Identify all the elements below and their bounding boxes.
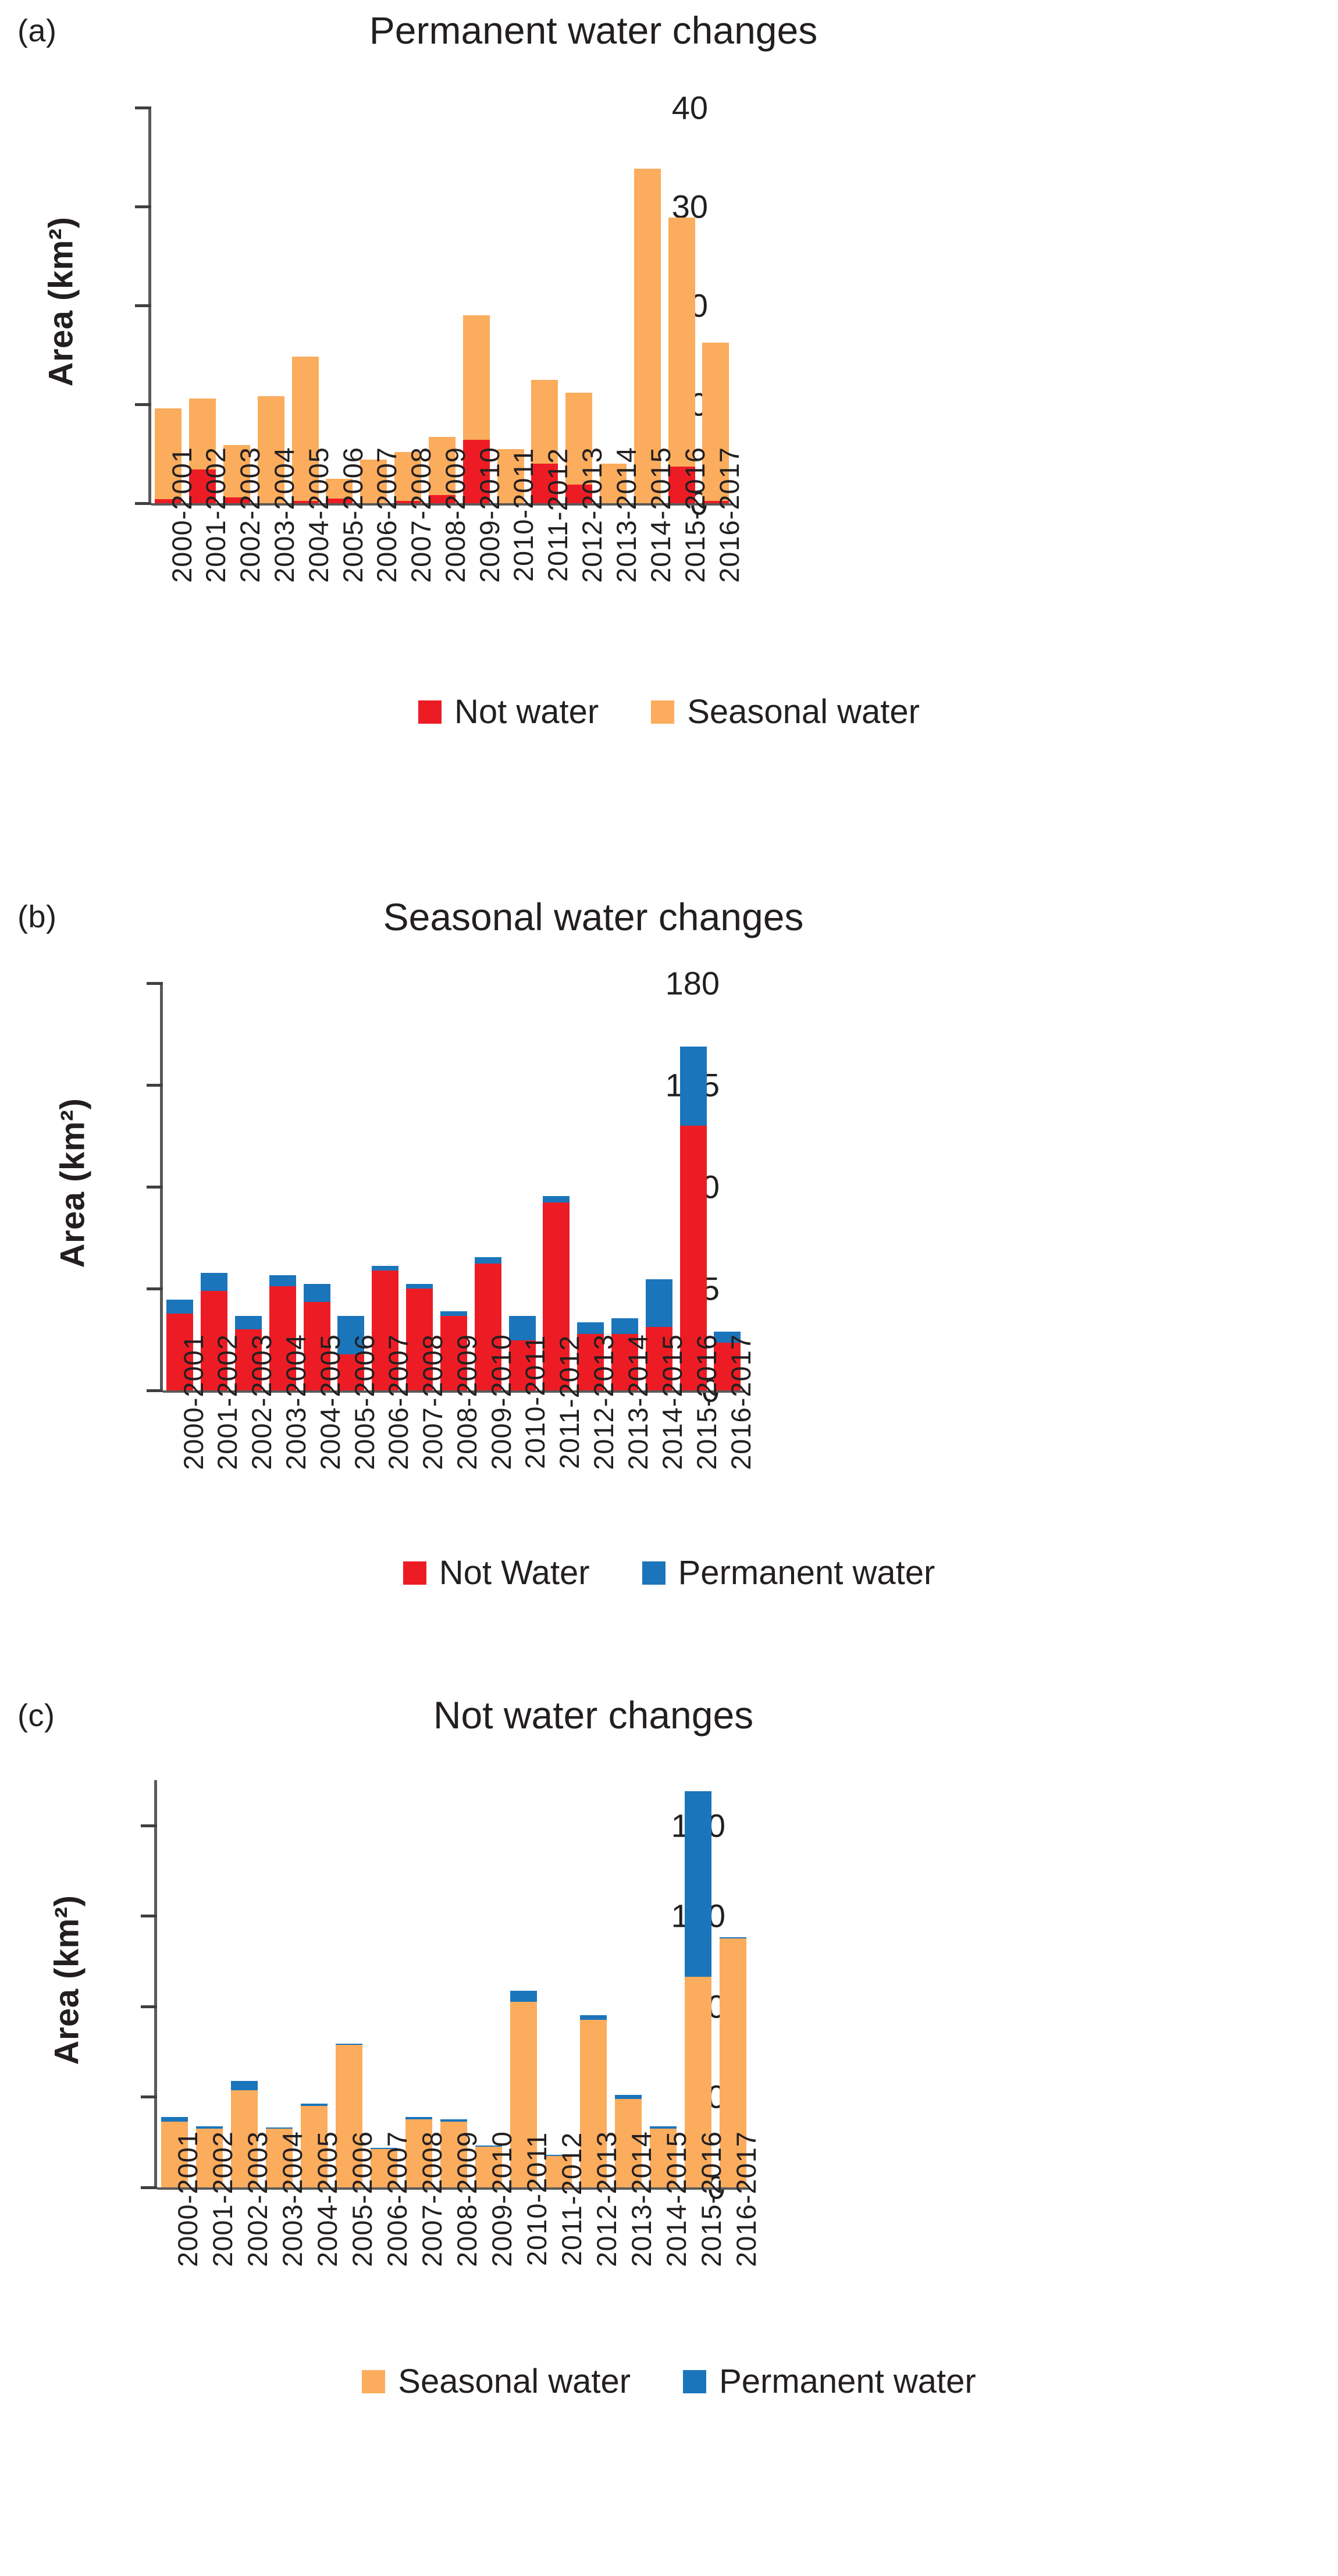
bar-slot — [163, 983, 197, 1390]
x-tick-slot: 2006-2007 — [364, 2199, 398, 2231]
panel-c-legend: Seasonal waterPermanent water — [0, 2362, 1338, 2401]
bar-segment — [510, 1991, 537, 2002]
panel-a-y-axis: 010203040 — [148, 108, 730, 503]
x-tick-slot: 2003-2004 — [259, 2199, 294, 2231]
bar-slot — [505, 983, 539, 1390]
bar-segment — [161, 2117, 188, 2122]
bar-slot — [227, 1780, 262, 2187]
y-tick-mark — [141, 2095, 157, 2098]
bar-segment — [406, 1284, 433, 1289]
x-tick-slot: 2005-2006 — [319, 515, 354, 547]
y-tick-mark — [135, 502, 151, 505]
x-tick-slot: 2008-2009 — [433, 2199, 468, 2231]
x-tick-slot: 2013-2014 — [608, 2199, 643, 2231]
x-tick-slot: 2015-2016 — [678, 2199, 713, 2231]
x-tick-slot: 2007-2008 — [388, 515, 422, 547]
legend-swatch-icon — [362, 2370, 385, 2393]
bar-slot — [471, 1780, 506, 2187]
legend-swatch-icon — [651, 700, 674, 724]
panel-b-legend: Not WaterPermanent water — [0, 1553, 1338, 1592]
y-tick-mark — [135, 403, 151, 406]
x-tick-slot: 2009-2010 — [468, 2199, 503, 2231]
bar-slot — [366, 1780, 401, 2187]
bar-segment — [440, 1311, 467, 1316]
bar-segment — [269, 1275, 296, 1286]
bar-segment — [615, 2095, 642, 2100]
bar-segment — [231, 2081, 258, 2090]
bar-slot — [681, 1780, 716, 2187]
bar-slot — [157, 1780, 192, 2187]
bar-slot — [539, 983, 574, 1390]
legend-label: Not water — [454, 692, 599, 731]
bar-slot — [220, 108, 254, 503]
legend-label: Seasonal water — [398, 2362, 631, 2401]
x-tick-slot: 2010-2011 — [502, 1402, 536, 1434]
bar-slot — [254, 108, 288, 503]
x-tick-slot: 2004-2005 — [285, 515, 319, 547]
bar-slot — [716, 1780, 750, 2187]
x-tick-slot: 2005-2006 — [329, 2199, 364, 2231]
bar-slot — [425, 108, 460, 503]
x-tick-label: 2016-2017 — [713, 447, 745, 583]
panel-a-legend: Not waterSeasonal water — [0, 692, 1338, 731]
x-tick-slot: 2009-2010 — [468, 1402, 502, 1434]
legend-item[interactable]: Not Water — [403, 1553, 590, 1592]
y-tick-mark — [141, 2005, 157, 2008]
y-tick-mark — [141, 1915, 157, 1917]
x-tick-slot: 2001-2002 — [194, 1402, 229, 1434]
x-tick-slot: 2016-2017 — [696, 515, 730, 547]
x-tick-slot: 2006-2007 — [354, 515, 388, 547]
x-tick-slot: 2001-2002 — [189, 2199, 224, 2231]
bar-slot — [611, 1780, 646, 2187]
x-tick-slot: 2015-2016 — [661, 515, 696, 547]
x-tick-slot: 2008-2009 — [422, 515, 457, 547]
bar-segment — [668, 218, 695, 467]
x-tick-slot: 2007-2008 — [400, 1402, 434, 1434]
bar-slot — [368, 983, 403, 1390]
bar-segment — [685, 1791, 711, 1977]
bar-slot — [642, 983, 676, 1390]
bar-segment — [543, 1196, 570, 1203]
panel-c-y-axis: 04080120160 — [154, 1780, 748, 2187]
x-tick-slot: 2013-2014 — [605, 1402, 639, 1434]
bar-slot — [436, 1780, 471, 2187]
x-tick-slot: 2004-2005 — [294, 2199, 329, 2231]
legend-label: Seasonal water — [687, 692, 920, 731]
legend-item[interactable]: Seasonal water — [651, 692, 920, 731]
x-tick-slot: 2006-2007 — [365, 1402, 400, 1434]
bar-segment — [463, 315, 490, 440]
panel-b-y-axis: 04590135180 — [160, 983, 742, 1390]
bar-slot — [608, 983, 642, 1390]
bar-segment — [580, 2015, 607, 2020]
panel-a-x-tick-labels: 2000-20012001-20022002-20032003-20042004… — [148, 515, 730, 547]
bar-slot — [437, 983, 471, 1390]
bar-slot — [192, 1780, 227, 2187]
y-tick-mark — [147, 1084, 163, 1087]
bar-slot — [596, 108, 631, 503]
y-tick-mark — [147, 1287, 163, 1290]
bar-slot — [574, 983, 608, 1390]
bar-slot — [493, 108, 528, 503]
bar-segment — [201, 1273, 227, 1291]
x-tick-slot: 2016-2017 — [707, 1402, 742, 1434]
legend-swatch-icon — [418, 700, 442, 724]
bar-slot — [664, 108, 699, 503]
bar-slot — [459, 108, 493, 503]
x-tick-slot: 2002-2003 — [229, 1402, 263, 1434]
bar-slot — [297, 1780, 332, 2187]
x-tick-slot: 2009-2010 — [456, 515, 490, 547]
legend-label: Not Water — [439, 1553, 590, 1592]
panel-a-bars — [151, 108, 733, 503]
panel-c-bars — [157, 1780, 750, 2187]
x-tick-slot: 2014-2015 — [639, 1402, 673, 1434]
x-tick-slot: 2011-2012 — [536, 1402, 571, 1434]
bar-slot — [471, 983, 505, 1390]
x-tick-slot: 2005-2006 — [331, 1402, 365, 1434]
bar-slot — [197, 983, 232, 1390]
panel-b: (b) Seasonal water changes Area (km²) 04… — [0, 809, 1338, 1582]
bar-slot — [332, 1780, 366, 2187]
stacked-bar[interactable] — [685, 1791, 711, 2187]
x-tick-slot: 2007-2008 — [398, 2199, 433, 2231]
bar-slot — [562, 108, 596, 503]
bar-slot — [401, 1780, 436, 2187]
bar-slot — [576, 1780, 611, 2187]
panel-a: (a) Permanent water changes Area (km²) 0… — [0, 0, 1338, 768]
bar-segment — [646, 1279, 672, 1327]
x-tick-slot: 2014-2015 — [643, 2199, 678, 2231]
x-tick-slot: 2011-2012 — [525, 515, 559, 547]
bar-slot — [288, 108, 322, 503]
x-tick-slot: 2001-2002 — [183, 515, 217, 547]
legend-label: Permanent water — [678, 1553, 935, 1592]
legend-swatch-icon — [683, 2370, 706, 2393]
x-tick-slot: 2002-2003 — [224, 2199, 259, 2231]
x-tick-slot: 2004-2005 — [297, 1402, 331, 1434]
x-tick-slot: 2003-2004 — [251, 515, 285, 547]
x-tick-label: 2016-2017 — [730, 2131, 762, 2267]
x-tick-slot: 2012-2013 — [573, 2199, 608, 2231]
bar-slot — [528, 108, 562, 503]
y-tick-mark — [141, 1824, 157, 1827]
panel-b-bars — [163, 983, 745, 1390]
x-tick-slot: 2011-2012 — [538, 2199, 573, 2231]
y-tick-mark — [147, 1389, 163, 1392]
x-tick-slot: 2000-2001 — [148, 515, 183, 547]
bar-segment — [235, 1316, 262, 1329]
x-tick-slot: 2003-2004 — [262, 1402, 297, 1434]
bar-slot — [322, 108, 357, 503]
panel-b-x-tick-labels: 2000-20012001-20022002-20032003-20042004… — [160, 1402, 742, 1434]
legend-item[interactable]: Permanent water — [642, 1553, 935, 1592]
legend-swatch-icon — [403, 1561, 426, 1585]
bar-segment — [304, 1284, 330, 1302]
x-tick-slot: 2010-2011 — [503, 2199, 538, 2231]
x-tick-slot: 2000-2001 — [154, 2199, 189, 2231]
x-tick-slot: 2016-2017 — [713, 2199, 748, 2231]
x-tick-slot: 2014-2015 — [627, 515, 661, 547]
y-tick-mark — [135, 304, 151, 307]
x-tick-slot: 2002-2003 — [217, 515, 251, 547]
bar-segment — [611, 1318, 638, 1334]
x-tick-label: 2016-2017 — [724, 1334, 756, 1470]
y-tick-mark — [135, 205, 151, 208]
bar-slot — [541, 1780, 576, 2187]
y-tick-mark — [141, 2186, 157, 2189]
bar-slot — [265, 983, 300, 1390]
x-tick-slot: 2015-2016 — [673, 1402, 707, 1434]
panel-c: (c) Not water changes Area (km²) 0408012… — [0, 1606, 1338, 2420]
bar-slot — [403, 983, 437, 1390]
legend-swatch-icon — [642, 1561, 666, 1585]
x-tick-slot: 2012-2013 — [571, 1402, 605, 1434]
legend-item[interactable]: Permanent water — [683, 2362, 976, 2401]
bar-slot — [676, 983, 710, 1390]
bar-slot — [391, 108, 425, 503]
bar-segment — [475, 1257, 501, 1264]
bar-slot — [300, 983, 334, 1390]
bar-slot — [232, 983, 266, 1390]
bar-slot — [506, 1780, 541, 2187]
bar-slot — [334, 983, 368, 1390]
bar-slot — [646, 1780, 681, 2187]
bar-segment — [372, 1266, 398, 1271]
bar-segment — [680, 1047, 707, 1126]
bar-slot — [699, 108, 733, 503]
panel-c-x-tick-labels: 2000-20012001-20022002-20032003-20042004… — [154, 2199, 748, 2231]
bar-slot — [710, 983, 745, 1390]
y-tick-mark — [147, 982, 163, 985]
x-tick-slot: 2010-2011 — [490, 515, 525, 547]
bar-slot — [630, 108, 664, 503]
x-tick-slot: 2013-2014 — [593, 515, 628, 547]
legend-label: Permanent water — [719, 2362, 976, 2401]
y-tick-mark — [135, 106, 151, 109]
bar-slot — [186, 108, 220, 503]
bar-slot — [262, 1780, 297, 2187]
panel-b-plot-area: 04590135180 2000-20012001-20022002-20032… — [0, 809, 1338, 1739]
x-tick-slot: 2008-2009 — [434, 1402, 468, 1434]
bar-segment — [577, 1322, 604, 1333]
y-tick-mark — [147, 1186, 163, 1189]
legend-item[interactable]: Seasonal water — [362, 2362, 631, 2401]
legend-item[interactable]: Not water — [418, 692, 599, 731]
bar-slot — [357, 108, 391, 503]
bar-slot — [151, 108, 186, 503]
bar-segment — [166, 1300, 193, 1313]
x-tick-slot: 2012-2013 — [559, 515, 593, 547]
x-tick-slot: 2000-2001 — [160, 1402, 194, 1434]
